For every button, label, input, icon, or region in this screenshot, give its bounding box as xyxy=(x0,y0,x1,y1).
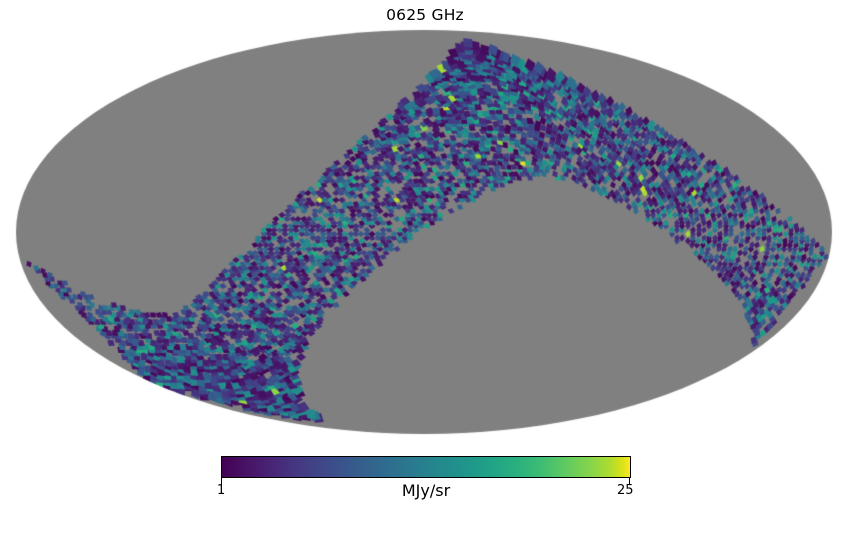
colorbar-gradient xyxy=(221,456,631,478)
colorbar-axis-label: MJy/sr xyxy=(221,481,631,500)
colorbar[interactable]: 1 25 MJy/sr xyxy=(221,456,631,478)
sky-map-mollweide xyxy=(0,0,850,460)
figure-canvas: 0625 GHz 1 25 MJy/sr xyxy=(0,0,850,540)
